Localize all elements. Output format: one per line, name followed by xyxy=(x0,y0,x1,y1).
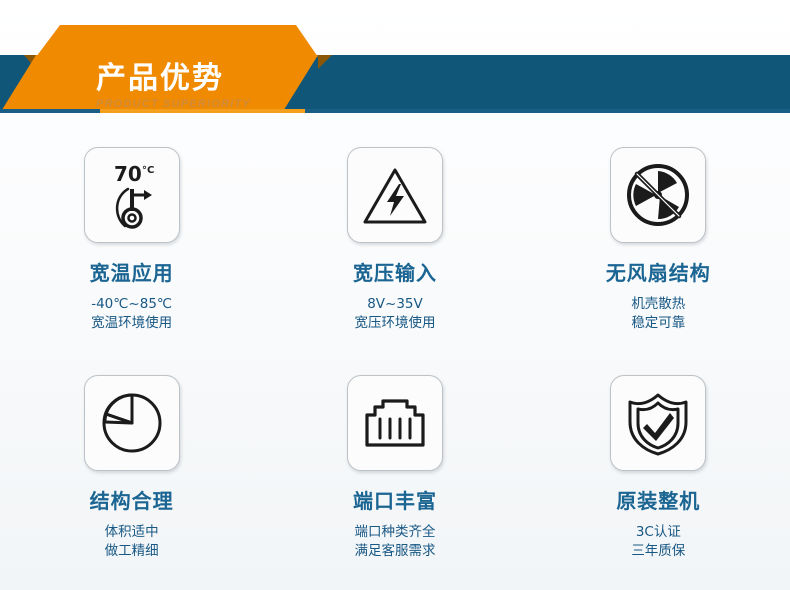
feature-title: 端口丰富 xyxy=(263,489,526,513)
banner-underline-right xyxy=(305,109,790,113)
feature-line: 体积适中 xyxy=(0,523,263,542)
feature-card-ports: 端口丰富 端口种类齐全 满足客服需求 xyxy=(263,349,526,577)
feature-card-structure: 结构合理 体积适中 做工精细 xyxy=(0,349,263,577)
feature-title: 宽压输入 xyxy=(263,261,526,285)
feature-description: 端口种类齐全 满足客服需求 xyxy=(263,523,526,561)
rj45-port-icon xyxy=(347,375,443,471)
feature-title: 宽温应用 xyxy=(0,261,263,285)
svg-text:°C: °C xyxy=(142,165,154,176)
feature-line: 端口种类齐全 xyxy=(263,523,526,542)
no-fan-icon xyxy=(610,147,706,243)
feature-line: 做工精细 xyxy=(0,542,263,561)
feature-line: 宽温环境使用 xyxy=(0,314,263,333)
feature-title: 原装整机 xyxy=(527,489,790,513)
feature-line: 三年质保 xyxy=(527,542,790,561)
svg-text:70: 70 xyxy=(114,162,142,186)
feature-description: 机壳散热 稳定可靠 xyxy=(527,295,790,333)
section-banner: 产品优势 PRODUCT SUPERIORITY xyxy=(0,25,790,113)
banner-orange-ribbon-top xyxy=(0,25,340,57)
shield-check-icon xyxy=(610,375,706,471)
feature-grid: 70 °C 宽温应用 -40℃~85℃ 宽温环境使用 xyxy=(0,143,790,577)
page-title: 产品优势 xyxy=(96,62,326,96)
high-voltage-warning-icon xyxy=(347,147,443,243)
feature-line: 机壳散热 xyxy=(527,295,790,314)
feature-title: 无风扇结构 xyxy=(527,261,790,285)
feature-card-wide-voltage: 宽压输入 8V~35V 宽压环境使用 xyxy=(263,143,526,349)
feature-line: 3C认证 xyxy=(527,523,790,542)
feature-card-original-machine: 原装整机 3C认证 三年质保 xyxy=(527,349,790,577)
feature-line: -40℃~85℃ xyxy=(0,295,263,314)
feature-description: 体积适中 做工精细 xyxy=(0,523,263,561)
feature-card-fanless: 无风扇结构 机壳散热 稳定可靠 xyxy=(527,143,790,349)
feature-description: 3C认证 三年质保 xyxy=(527,523,790,561)
pie-chart-icon xyxy=(84,375,180,471)
feature-card-wide-temperature: 70 °C 宽温应用 -40℃~85℃ 宽温环境使用 xyxy=(0,143,263,349)
feature-line: 8V~35V xyxy=(263,295,526,314)
feature-line: 宽压环境使用 xyxy=(263,314,526,333)
page-subtitle: PRODUCT SUPERIORITY xyxy=(96,97,326,111)
feature-line: 满足客服需求 xyxy=(263,542,526,561)
product-superiority-page: 产品优势 PRODUCT SUPERIORITY 70 °C 宽温应用 xyxy=(0,25,790,590)
feature-description: 8V~35V 宽压环境使用 xyxy=(263,295,526,333)
banner-text-group: 产品优势 PRODUCT SUPERIORITY xyxy=(96,62,326,111)
thermometer-70c-icon: 70 °C xyxy=(84,147,180,243)
feature-line: 稳定可靠 xyxy=(527,314,790,333)
banner-underline-left xyxy=(0,109,100,113)
feature-description: -40℃~85℃ 宽温环境使用 xyxy=(0,295,263,333)
feature-title: 结构合理 xyxy=(0,489,263,513)
